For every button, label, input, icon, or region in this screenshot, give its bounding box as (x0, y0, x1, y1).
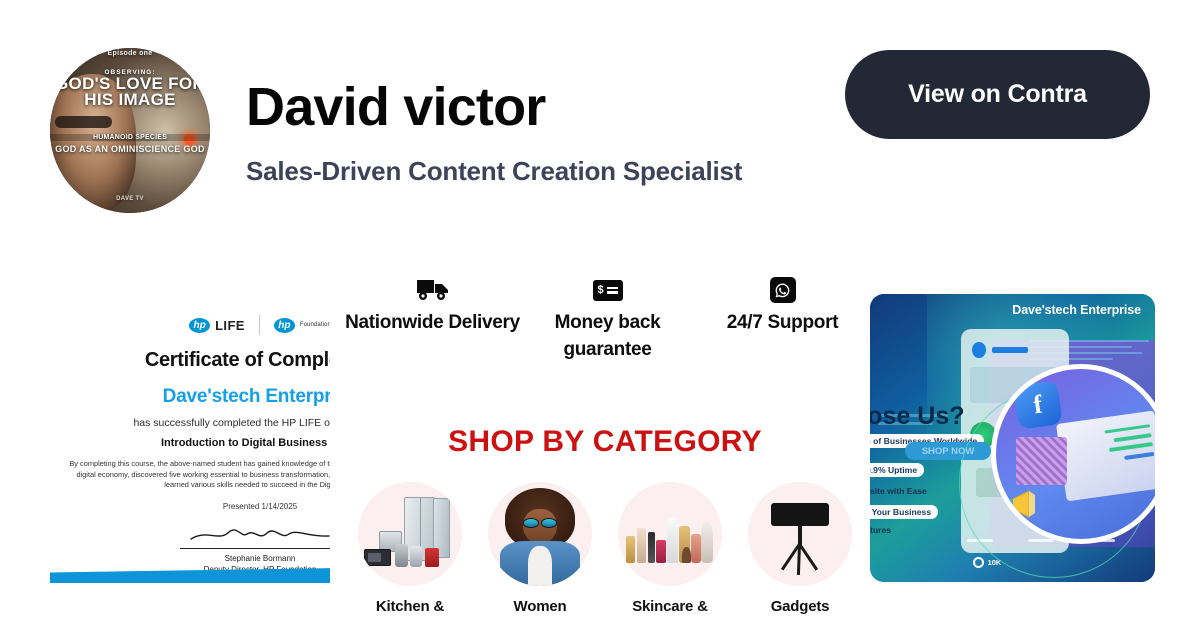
certificate-course: Introduction to Digital Business Skills (50, 437, 330, 449)
kitchen-appliances-image (358, 482, 462, 586)
hp-life-logo: hp LIFE (189, 318, 245, 333)
category-label: Women (475, 598, 605, 615)
promo-bullet-1: 9.9% Uptime (870, 463, 924, 477)
delivery-truck-icon (345, 275, 520, 305)
category-label: Kitchen & (345, 598, 475, 615)
certificate-recipient: Dave'stech Enterprise (50, 386, 330, 408)
certificate-image[interactable]: hp LIFE hp Foundation Certificate of Com… (50, 295, 330, 583)
avatar-episode-text: Episode one (50, 50, 210, 57)
shopping-cart-icon (1016, 437, 1067, 485)
signature-icon (180, 524, 330, 546)
certificate-presented-date: Presented 1/14/2025 (50, 502, 330, 511)
avatar[interactable]: Episode one OBSERVING: GOD'S LOVE FOR HI… (50, 48, 210, 213)
skincare-cosmetics-image (618, 482, 722, 586)
card-lines-icon (607, 287, 618, 294)
profile-header: Episode one OBSERVING: GOD'S LOVE FOR HI… (0, 0, 1200, 240)
feature-label: Nationwide Delivery (345, 309, 520, 336)
hp-logo-icon: hp (189, 318, 210, 333)
view-on-contra-button[interactable]: View on Contra (845, 50, 1150, 139)
certificate-body: By completing this course, the above-nam… (50, 459, 330, 491)
certificate-line: has successfully completed the HP LIFE o… (50, 417, 330, 429)
feature-money-back-guarantee: $ Money back guarantee (520, 275, 695, 363)
hp-logo-icon: hp (274, 318, 295, 333)
whatsapp-icon (695, 275, 870, 305)
certificate-heading: Certificate of Completion (50, 349, 330, 372)
women-fashion-image (488, 482, 592, 586)
avatar-bottom-text: DAVE TV (50, 196, 210, 202)
feature-label: Money back guarantee (520, 309, 695, 363)
hp-life-label: LIFE (215, 318, 245, 333)
category-label: Gadgets (735, 598, 865, 615)
page-title: David victor (246, 76, 546, 138)
avatar-subtitle-text: GOD AS AN OMINISCIENCE GOD (50, 143, 210, 155)
profile-tagline: Sales-Driven Content Creation Specialist (246, 156, 742, 187)
whatsapp-badge (770, 277, 796, 303)
category-item-gadgets[interactable]: Gadgets (735, 482, 865, 615)
promo-banner-image[interactable]: Dave'stech Enterprise oose Us? s of Busi… (870, 294, 1155, 582)
category-item-women[interactable]: Women (475, 482, 605, 615)
facebook-icon: f (1014, 380, 1064, 430)
hp-foundation-logo: hp Foundation (274, 318, 330, 333)
avatar-species-text: HUMANOID SPECIES (50, 134, 210, 141)
money-card-shape: $ (593, 280, 623, 301)
feature-label: 24/7 Support (695, 309, 870, 336)
category-label: Skincare & (605, 598, 735, 615)
feature-support: 24/7 Support (695, 275, 870, 336)
megaphone-icon (999, 487, 1051, 519)
category-list: Kitchen & Women Skincare & (345, 482, 865, 630)
shop-by-category-title: SHOP BY CATEGORY (345, 425, 865, 459)
avatar-title-text: GOD'S LOVE FOR HIS IMAGE (50, 76, 210, 107)
hp-foundation-label: Foundation (300, 322, 330, 328)
promo-magnifier-inset: f (991, 364, 1155, 544)
category-item-skincare[interactable]: Skincare & (605, 482, 735, 615)
category-item-kitchen[interactable]: Kitchen & (345, 482, 475, 615)
certificate-content: hp LIFE hp Foundation Certificate of Com… (50, 295, 330, 583)
laptop-icon (1056, 410, 1155, 501)
money-card-icon: $ (520, 275, 695, 305)
promo-bullet-3: r Your Business (870, 505, 938, 519)
metric-ring-icon (973, 557, 984, 568)
avatar-artwork: Episode one OBSERVING: GOD'S LOVE FOR HI… (50, 48, 210, 213)
promo-bullet-2: site with Ease (870, 486, 927, 496)
signature-rule (180, 548, 330, 549)
logo-divider (259, 315, 260, 335)
promo-heading: oose Us? (870, 402, 965, 431)
features-row: Nationwide Delivery $ Money back guarant… (345, 275, 865, 370)
feature-nationwide-delivery: Nationwide Delivery (345, 275, 520, 336)
promo-brand-name: Dave'stech Enterprise (1012, 303, 1141, 317)
promo-bullet-4: tures (870, 525, 891, 535)
dollar-sign-icon: $ (597, 285, 603, 296)
profile-showcase-page: Episode one OBSERVING: GOD'S LOVE FOR HI… (0, 0, 1200, 630)
gadgets-tripod-image (748, 482, 852, 586)
signer-name: Stephanie Bormann (50, 553, 330, 564)
certificate-logos: hp LIFE hp Foundation (50, 295, 330, 335)
